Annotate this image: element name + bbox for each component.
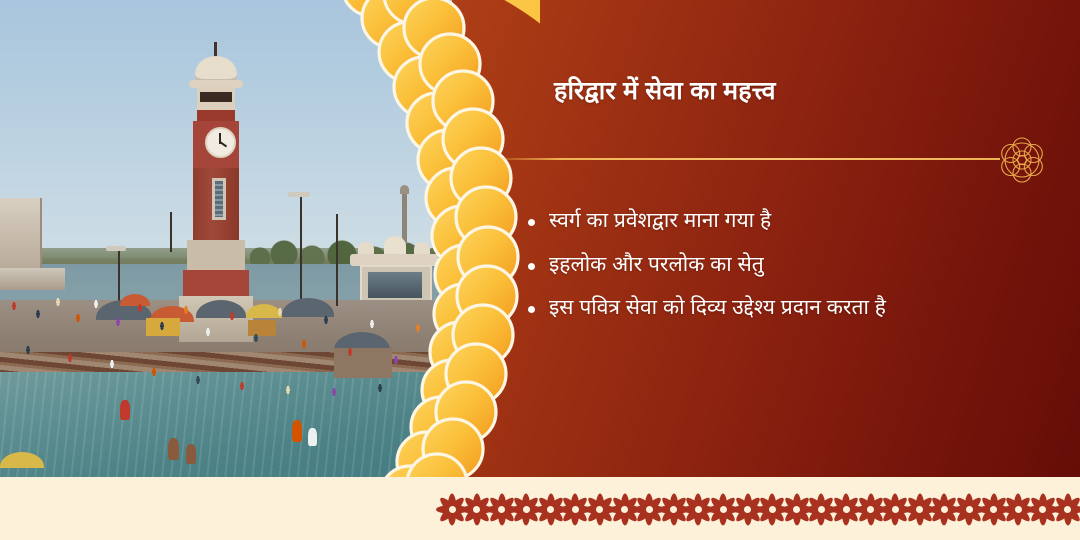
list-item: स्वर्ग का प्रवेशद्वार माना गया है — [528, 208, 1058, 234]
slide-canvas: हरिद्वार में सेवा का महत्त्व स्वर्ग का प… — [0, 0, 1080, 540]
bullet-list: स्वर्ग का प्रवेशद्वार माना गया है इहलोक … — [528, 208, 1058, 339]
bridge — [0, 268, 65, 290]
page-title: हरिद्वार में सेवा का महत्त्व — [554, 76, 1024, 107]
eight-point-star-icon — [1055, 492, 1080, 526]
tower-dome — [195, 56, 237, 82]
tower-clock-stage — [193, 121, 239, 169]
list-item: इहलोक और परलोक का सेतु — [528, 252, 1058, 278]
list-item: इस पवित्र सेवा को दिव्य उद्देश्य प्रदान … — [528, 295, 1058, 321]
clock-tower — [185, 42, 247, 300]
tower-upper-stage — [197, 87, 235, 111]
photo-container — [0, 0, 452, 477]
lamp-pole — [170, 212, 172, 252]
lamp-head — [430, 214, 452, 220]
lamp-head — [288, 192, 310, 197]
haridwar-ghat-photo — [0, 0, 452, 477]
lamp-pole — [300, 196, 302, 300]
clock-face-icon — [205, 127, 236, 158]
tower-base-upper — [187, 240, 245, 274]
lamp-head — [106, 246, 126, 251]
bather — [308, 428, 317, 446]
bullet-text: स्वर्ग का प्रवेशद्वार माना गया है — [549, 208, 1058, 234]
bullet-dot-icon — [528, 306, 535, 313]
mandala-rosette-icon — [998, 136, 1046, 184]
bullet-dot-icon — [528, 219, 535, 226]
shrine-dome-center — [384, 236, 406, 256]
tower-window — [212, 178, 226, 220]
tower-shaft — [193, 168, 239, 242]
gold-divider-line — [500, 158, 1000, 160]
pilgrim-crowd — [0, 292, 452, 410]
bather — [120, 400, 130, 420]
bullet-text: इस पवित्र सेवा को दिव्य उद्देश्य प्रदान … — [549, 295, 1058, 321]
riverside-building — [0, 198, 42, 268]
bather — [292, 420, 302, 442]
bather — [186, 444, 196, 464]
bather — [168, 438, 179, 460]
bullet-dot-icon — [528, 263, 535, 270]
bullet-text: इहलोक और परलोक का सेतु — [549, 252, 1058, 278]
star-motif-row — [0, 489, 1080, 529]
